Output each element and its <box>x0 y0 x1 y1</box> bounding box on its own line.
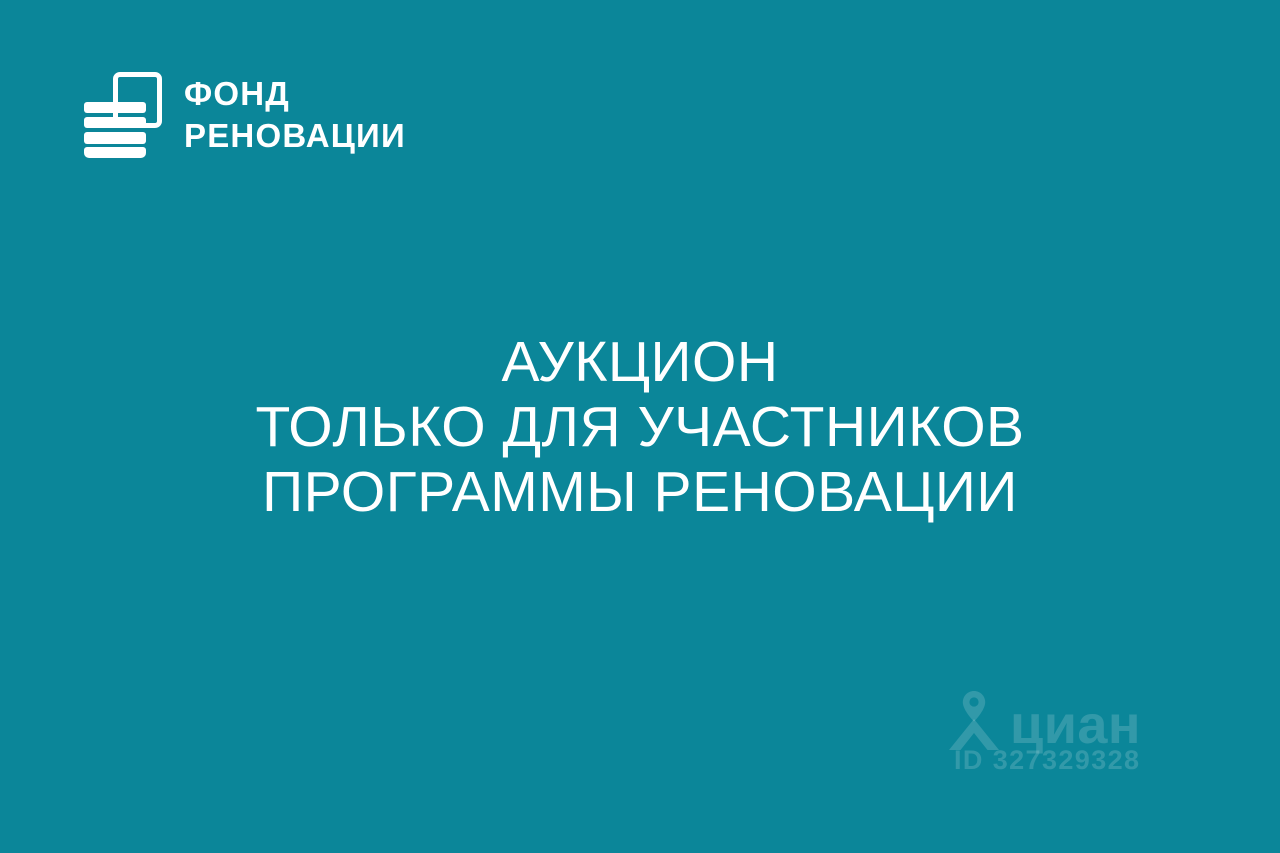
listing-image-canvas: ФОНД РЕНОВАЦИИ АУКЦИОН ТОЛЬКО ДЛЯ УЧАСТН… <box>0 0 1280 853</box>
cian-watermark-listing-id: ID 327329328 <box>954 745 1140 776</box>
logo-wordmark-line-2: РЕНОВАЦИИ <box>184 119 406 152</box>
logo-wordmark-line-1: ФОНД <box>184 77 406 110</box>
headline-line-3: ПРОГРАММЫ РЕНОВАЦИИ <box>0 460 1280 525</box>
document-stack-icon <box>84 70 162 158</box>
headline-line-2: ТОЛЬКО ДЛЯ УЧАСТНИКОВ <box>0 395 1280 460</box>
stack-bar-1 <box>84 102 146 113</box>
document-stack-bars <box>84 102 146 158</box>
cian-watermark-wordmark: циан <box>1010 701 1141 751</box>
headline-line-1: АУКЦИОН <box>0 330 1280 395</box>
stack-bar-4 <box>84 147 146 158</box>
logo-wordmark: ФОНД РЕНОВАЦИИ <box>184 77 406 152</box>
stack-bar-3 <box>84 132 146 144</box>
headline-block: АУКЦИОН ТОЛЬКО ДЛЯ УЧАСТНИКОВ ПРОГРАММЫ … <box>0 330 1280 525</box>
cian-watermark: циан ID 327329328 <box>946 681 1176 791</box>
stack-bar-2 <box>84 117 146 128</box>
fond-renovacii-logo: ФОНД РЕНОВАЦИИ <box>84 70 406 158</box>
cian-watermark-logo-row: циан <box>946 689 1141 751</box>
cian-pin-chevron-icon <box>946 689 1002 751</box>
